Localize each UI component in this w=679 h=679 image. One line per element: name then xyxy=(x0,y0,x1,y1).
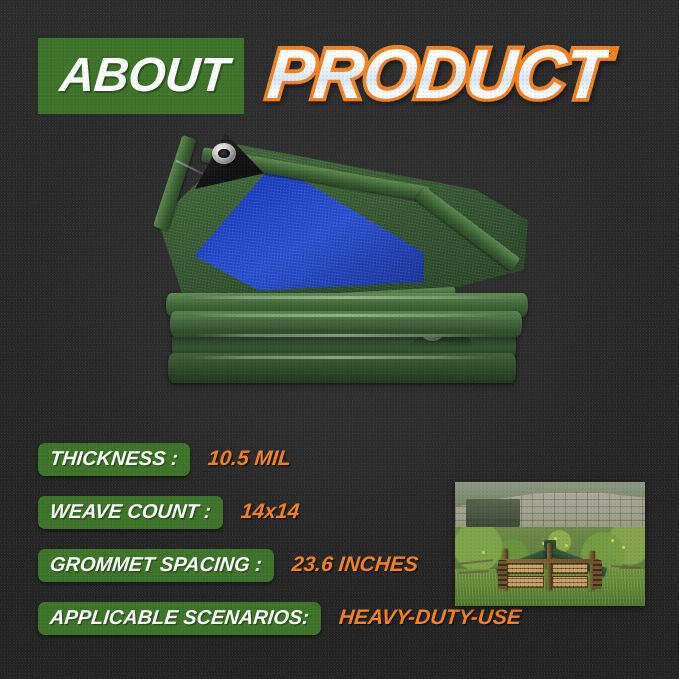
spec-label-pill: APPLICABLE SCENARIOS: xyxy=(38,602,321,635)
hotel-cell-block xyxy=(507,576,543,588)
title-product-wrapper: PRODUCT PRODUCT xyxy=(268,26,607,122)
spec-value-text: 14x14 xyxy=(240,500,301,523)
scene-wall-recess xyxy=(466,499,519,526)
spec-label-text: APPLICABLE SCENARIOS: xyxy=(49,607,310,629)
about-banner: ABOUT xyxy=(38,38,244,114)
title-about: ABOUT xyxy=(58,52,230,100)
spec-value-text: 10.5 MIL xyxy=(207,447,292,470)
spec-label-pill: WEAVE COUNT : xyxy=(38,496,223,529)
scene-flower xyxy=(611,539,614,542)
hotel-cell-block xyxy=(507,563,543,575)
spec-row-thickness: THICKNESS : 10.5 MIL xyxy=(38,441,638,477)
fold-highlight xyxy=(193,334,496,337)
insect-hotel xyxy=(497,532,603,592)
tarp-fold-4 xyxy=(168,353,516,383)
fold-highlight xyxy=(191,314,501,317)
hotel-cell-block xyxy=(552,576,588,588)
spec-label-text: WEAVE COUNT : xyxy=(49,501,212,523)
spec-value-text: HEAVY-DUTY-USE xyxy=(338,606,522,629)
spec-label-pill: THICKNESS : xyxy=(38,443,190,476)
spec-label-text: THICKNESS : xyxy=(49,448,179,470)
title-product-outline: PRODUCT xyxy=(265,39,610,109)
hotel-log-stack-left xyxy=(498,560,508,589)
grommet-top-left xyxy=(212,143,236,164)
fold-highlight xyxy=(189,356,495,359)
tarp-illustration xyxy=(120,125,560,425)
scene-photo xyxy=(455,482,645,606)
spec-value-text: 23.6 INCHES xyxy=(291,553,419,576)
header: ABOUT PRODUCT PRODUCT xyxy=(0,30,679,122)
hotel-log-stack-right xyxy=(593,560,603,589)
spec-label-pill: GROMMET SPACING : xyxy=(38,549,274,582)
product-infographic: ABOUT PRODUCT PRODUCT xyxy=(0,0,679,679)
hotel-post-middle xyxy=(547,543,552,589)
spec-label-text: GROMMET SPACING : xyxy=(49,554,263,576)
tarp-product-photo xyxy=(120,125,560,425)
fold-highlight xyxy=(188,296,507,299)
hotel-cell-block xyxy=(552,563,588,575)
